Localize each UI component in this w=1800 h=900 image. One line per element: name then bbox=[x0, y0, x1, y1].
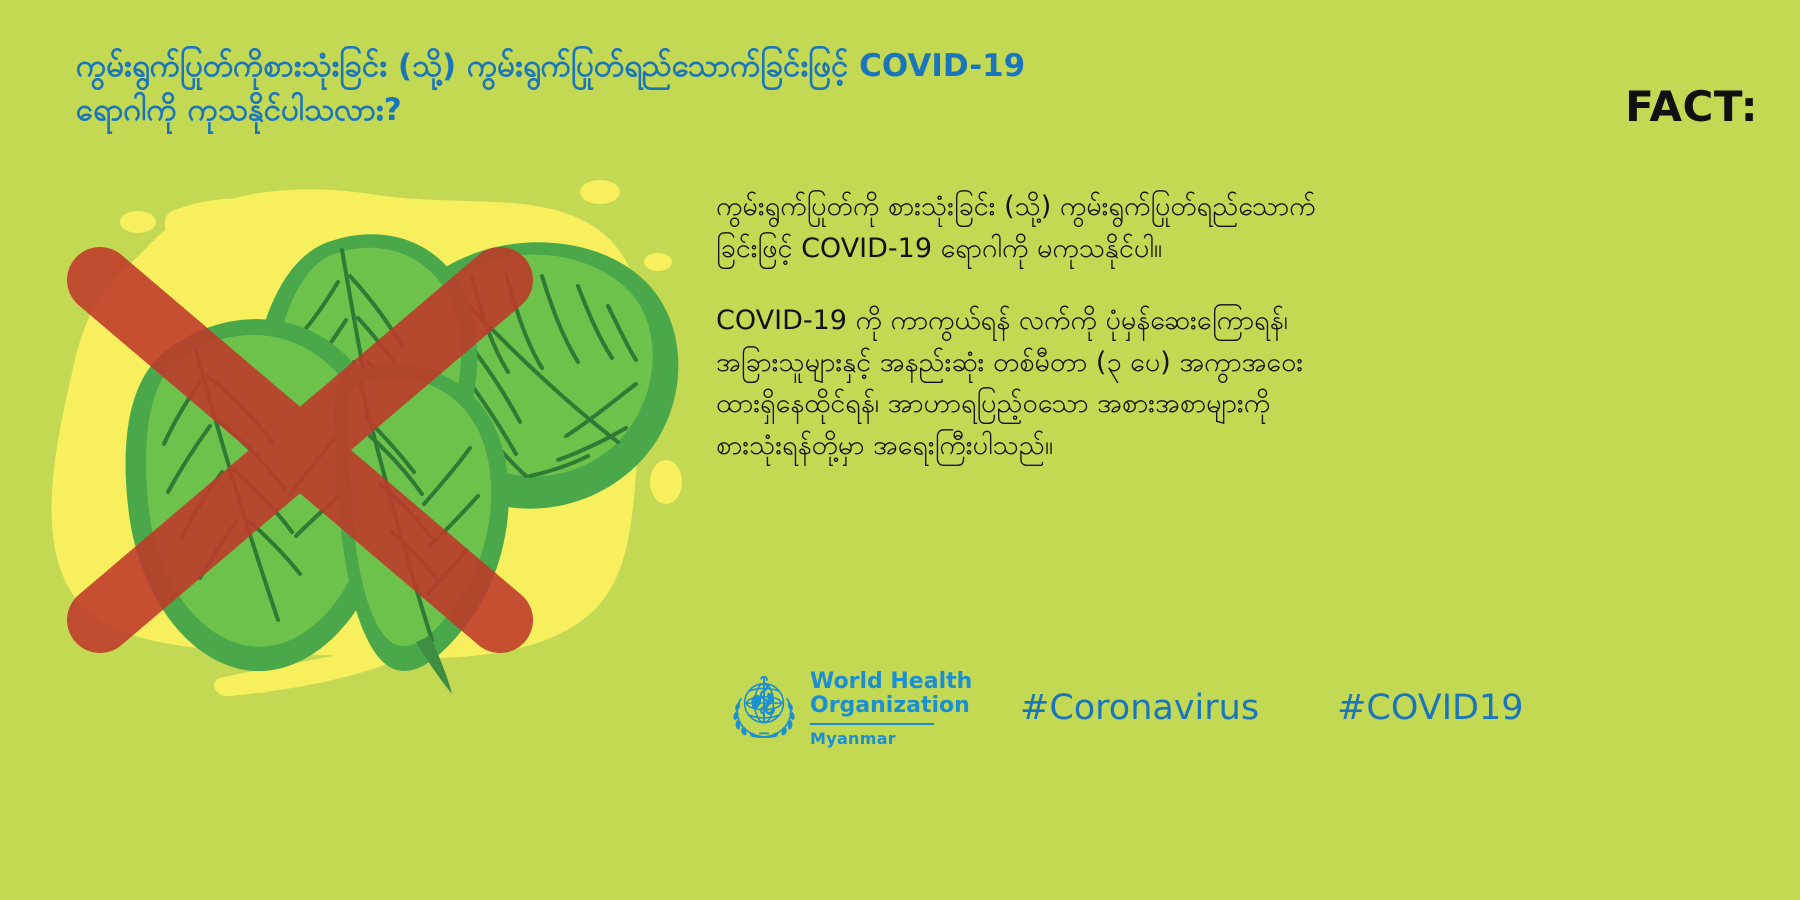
hashtag-coronavirus[interactable]: #Coronavirus bbox=[1020, 688, 1259, 728]
body-line: ကွမ်းရွက်ပြုတ်ကို စားသုံးခြင်း (သို့) ကွ… bbox=[716, 186, 1546, 228]
hashtag-covid19[interactable]: #COVID19 bbox=[1337, 688, 1523, 728]
page-title: ကွမ်းရွက်ပြုတ်ကိုစားသုံးခြင်း (သို့) ကွမ… bbox=[76, 44, 1276, 132]
headline-line-1: ကွမ်းရွက်ပြုတ်ကိုစားသုံးခြင်း (သို့) ကွမ… bbox=[76, 44, 1276, 88]
headline-line-2: ရောဂါကို ကုသနိုင်ပါသလား? bbox=[76, 88, 1276, 132]
betel-leaves-illustration bbox=[40, 150, 700, 710]
body-copy: ကွမ်းရွက်ပြုတ်ကို စားသုံးခြင်း (သို့) ကွ… bbox=[716, 186, 1546, 467]
body-line: ထားရှိနေထိုင်ရန်၊ အာဟာရပြည့်ဝသော အစားအစာ… bbox=[716, 383, 1546, 425]
who-logo: World Health Organization Myanmar bbox=[728, 668, 938, 760]
body-line: စားသုံးရန်တို့မှာ အရေးကြီးပါသည်။ bbox=[716, 425, 1546, 467]
fact-label: FACT: bbox=[1625, 82, 1758, 131]
hashtag-group: #Coronavirus #COVID19 bbox=[1020, 688, 1540, 728]
who-name-line-1: World Health bbox=[810, 670, 972, 694]
who-wordmark: World Health Organization Myanmar bbox=[810, 668, 972, 748]
body-paragraph-1: ကွမ်းရွက်ပြုတ်ကို စားသုံးခြင်း (သို့) ကွ… bbox=[716, 186, 1546, 270]
who-name-line-2: Organization bbox=[810, 694, 972, 718]
body-line: COVID-19 ကို ကာကွယ်ရန် လက်ကို ပုံမှန်ဆေး… bbox=[716, 300, 1546, 342]
who-emblem-icon bbox=[728, 670, 800, 742]
who-country-label: Myanmar bbox=[810, 729, 972, 748]
body-line: အခြားသူများနှင့် အနည်းဆုံး တစ်မီတာ (၃ ပေ… bbox=[716, 342, 1546, 384]
body-line: ခြင်းဖြင့် COVID-19 ရောဂါကို မကုသနိုင်ပါ… bbox=[716, 228, 1546, 270]
fact-poster: ကွမ်းရွက်ပြုတ်ကိုစားသုံးခြင်း (သို့) ကွမ… bbox=[0, 0, 1800, 900]
who-divider bbox=[810, 723, 934, 725]
body-paragraph-2: COVID-19 ကို ကာကွယ်ရန် လက်ကို ပုံမှန်ဆေး… bbox=[716, 300, 1546, 467]
